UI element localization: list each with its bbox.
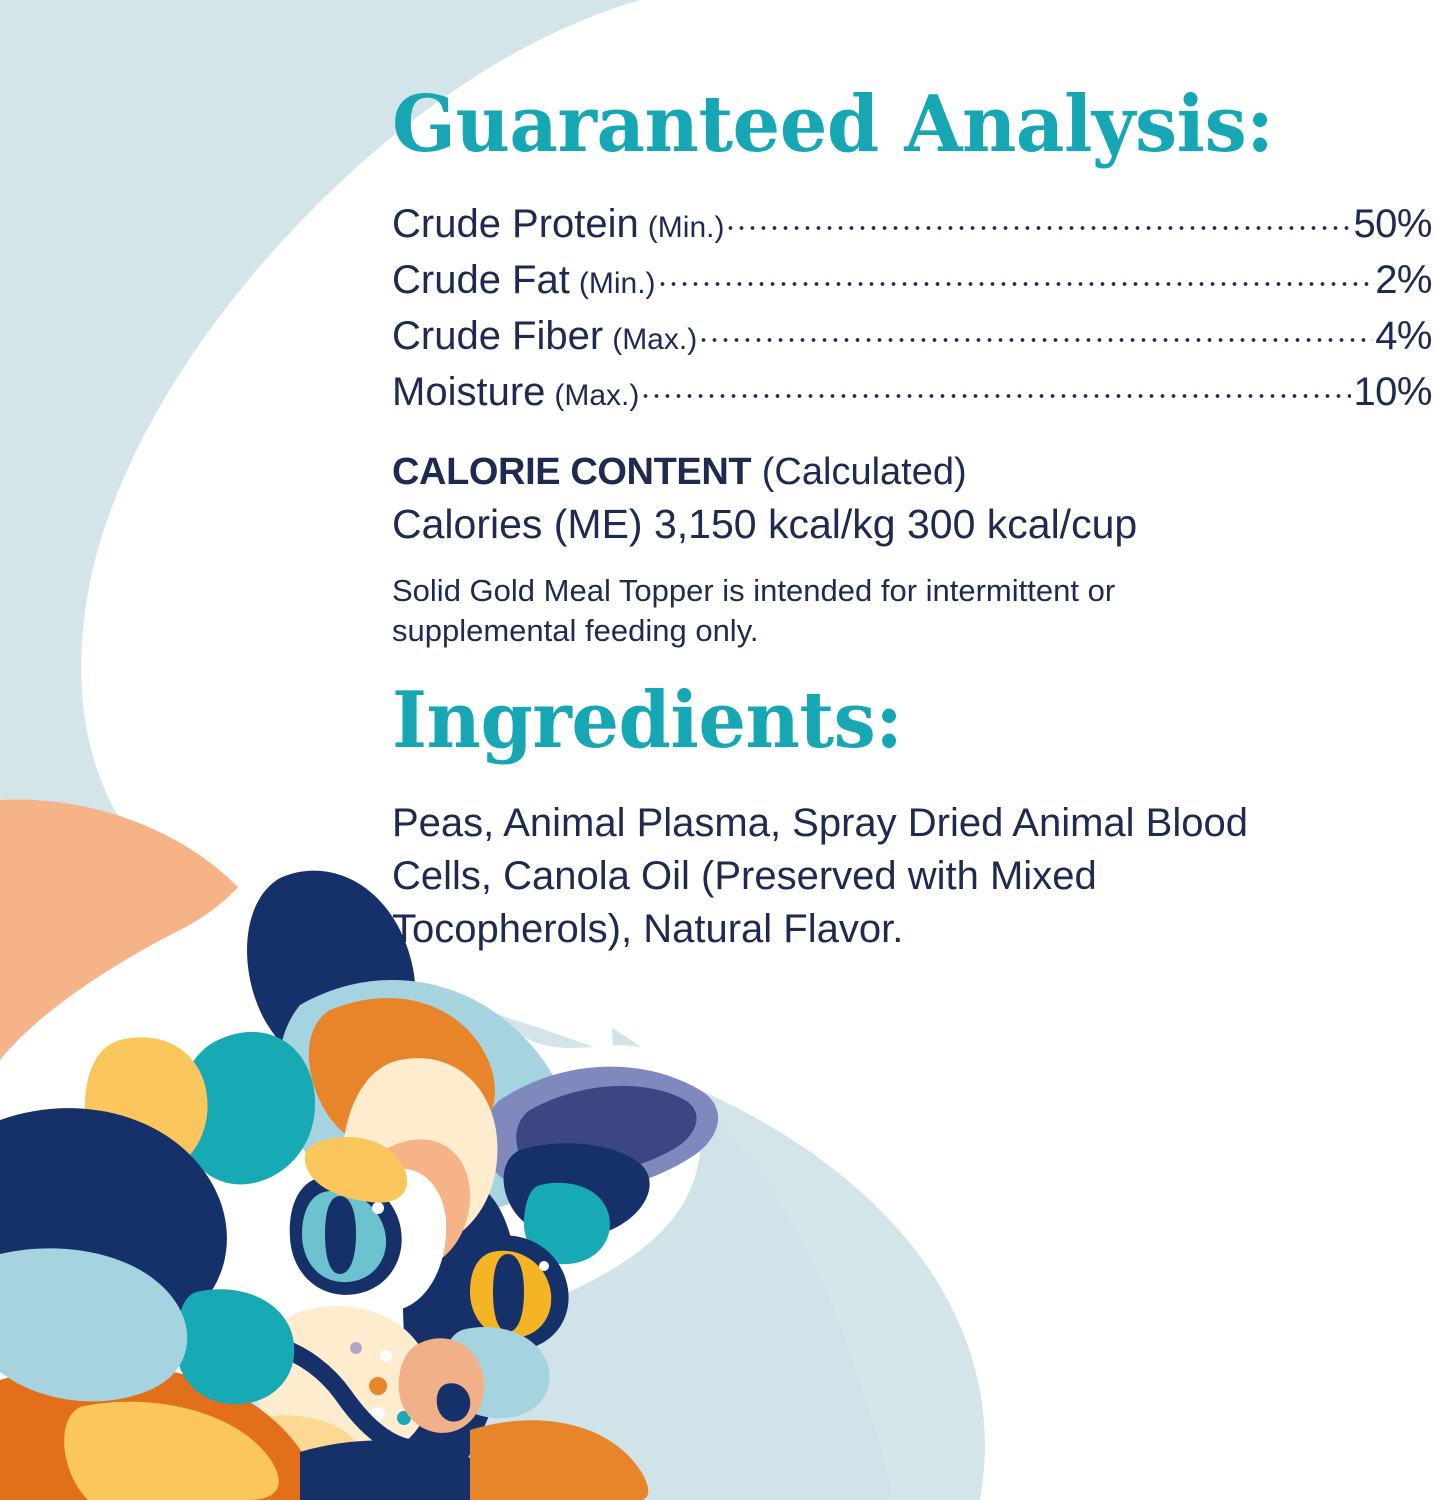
ingredients-list-text: Peas, Animal Plasma, Spray Dried Animal … <box>392 797 1322 956</box>
nutrient-qualifier: (Min.) <box>648 201 725 254</box>
nutrient-value: 50% <box>1353 198 1432 251</box>
feeding-disclaimer: Solid Gold Meal Topper is intended for i… <box>392 571 1252 651</box>
dot-leader <box>657 263 1374 293</box>
nutrient-qualifier: (Min.) <box>579 257 656 310</box>
nutrient-value: 10% <box>1353 366 1432 419</box>
table-row: Crude Protein (Min.) 50% <box>392 198 1432 254</box>
nutrient-label: Crude Fat <box>392 254 570 307</box>
ingredients-heading: Ingredients: <box>392 678 902 764</box>
nutrient-qualifier: (Max.) <box>612 313 697 366</box>
table-row: Crude Fiber (Max.) 4% <box>392 310 1432 366</box>
dot-leader <box>725 207 1351 237</box>
calorie-content-note: (Calculated) <box>762 451 967 493</box>
calorie-content-title: CALORIE CONTENT (Calculated) <box>392 447 1137 497</box>
guaranteed-analysis-table: Crude Protein (Min.) 50% Crude Fat (Min.… <box>392 198 1432 422</box>
calorie-content-label: CALORIE CONTENT <box>392 451 751 493</box>
dot-leader <box>640 375 1351 405</box>
product-label-panel: Guaranteed Analysis: Crude Protein (Min.… <box>0 0 1436 1500</box>
nutrient-label: Crude Protein <box>392 198 639 251</box>
calorie-values-line: Calories (ME) 3,150 kcal/kg 300 kcal/cup <box>392 497 1137 552</box>
dot-leader <box>698 319 1373 349</box>
nutrient-qualifier: (Max.) <box>554 369 639 422</box>
calorie-content-block: CALORIE CONTENT (Calculated) Calories (M… <box>392 447 1137 552</box>
nutrient-label: Crude Fiber <box>392 310 603 363</box>
table-row: Crude Fat (Min.) 2% <box>392 254 1432 310</box>
nutrient-label: Moisture <box>392 366 545 419</box>
nutrient-value: 2% <box>1375 254 1432 307</box>
nutrient-value: 4% <box>1375 310 1432 363</box>
guaranteed-analysis-heading: Guaranteed Analysis: <box>392 82 1273 168</box>
table-row: Moisture (Max.) 10% <box>392 366 1432 422</box>
